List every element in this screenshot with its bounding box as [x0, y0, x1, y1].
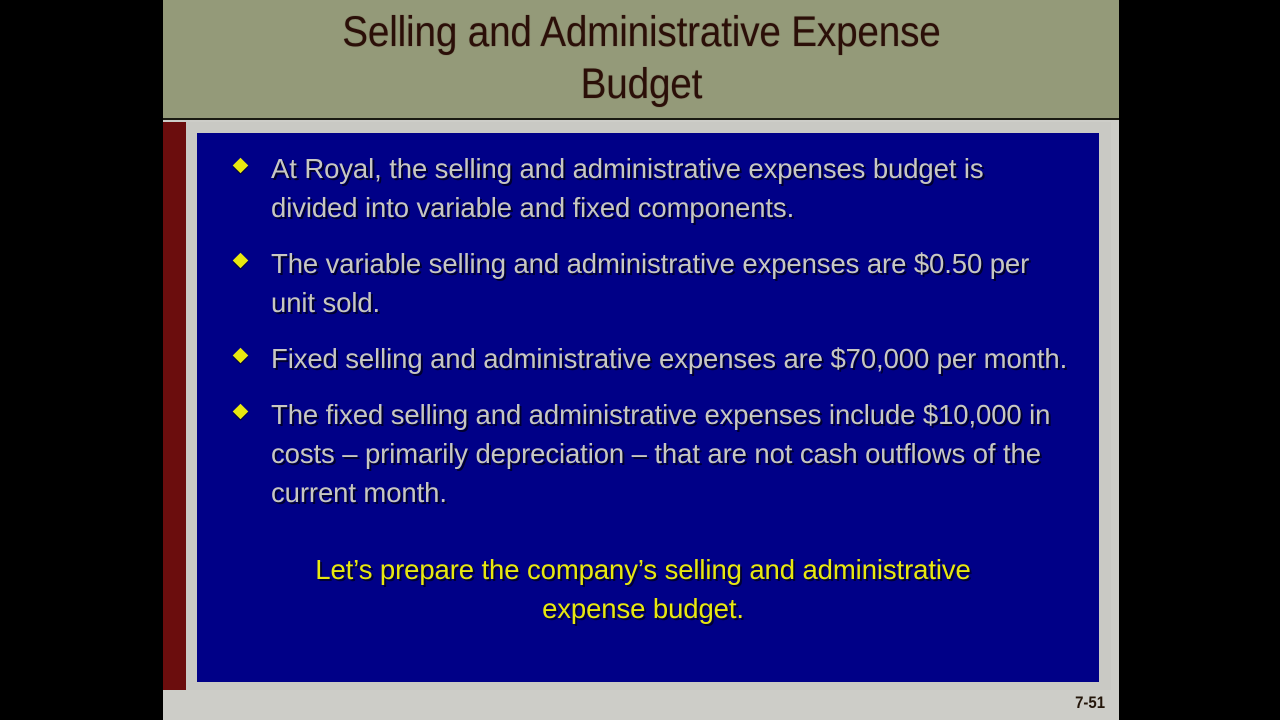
- diamond-bullet-icon: [233, 348, 249, 364]
- bullet-text: Fixed selling and administrative expense…: [271, 343, 1067, 374]
- slide-title: Selling and Administrative Expense Budge…: [342, 7, 940, 110]
- diamond-bullet-icon: [233, 404, 249, 420]
- slide-canvas: Selling and Administrative Expense Budge…: [163, 0, 1119, 720]
- bullet-list: At Royal, the selling and administrative…: [213, 149, 1073, 512]
- list-item: The variable selling and administrative …: [213, 244, 1073, 322]
- diamond-bullet-icon: [233, 158, 249, 174]
- bullet-text: At Royal, the selling and administrative…: [271, 153, 984, 223]
- list-item: The fixed selling and administrative exp…: [213, 395, 1073, 512]
- list-item: At Royal, the selling and administrative…: [213, 149, 1073, 227]
- slide-title-band: Selling and Administrative Expense Budge…: [163, 0, 1119, 118]
- presentation-letterbox-stage: Selling and Administrative Expense Budge…: [0, 0, 1280, 720]
- slide-footer: 7-51: [163, 690, 1119, 720]
- bullet-text: The variable selling and administrative …: [271, 248, 1029, 318]
- left-accent-bar: [163, 122, 186, 690]
- diamond-bullet-icon: [233, 253, 249, 269]
- slide-content-body: At Royal, the selling and administrative…: [197, 133, 1099, 682]
- closing-note: Let’s prepare the company’s selling and …: [213, 550, 1073, 628]
- slide-content-frame: At Royal, the selling and administrative…: [186, 122, 1111, 690]
- list-item: Fixed selling and administrative expense…: [213, 339, 1073, 378]
- title-divider-rule: [163, 118, 1119, 120]
- bullet-text: The fixed selling and administrative exp…: [271, 399, 1050, 508]
- page-number: 7-51: [1075, 693, 1105, 713]
